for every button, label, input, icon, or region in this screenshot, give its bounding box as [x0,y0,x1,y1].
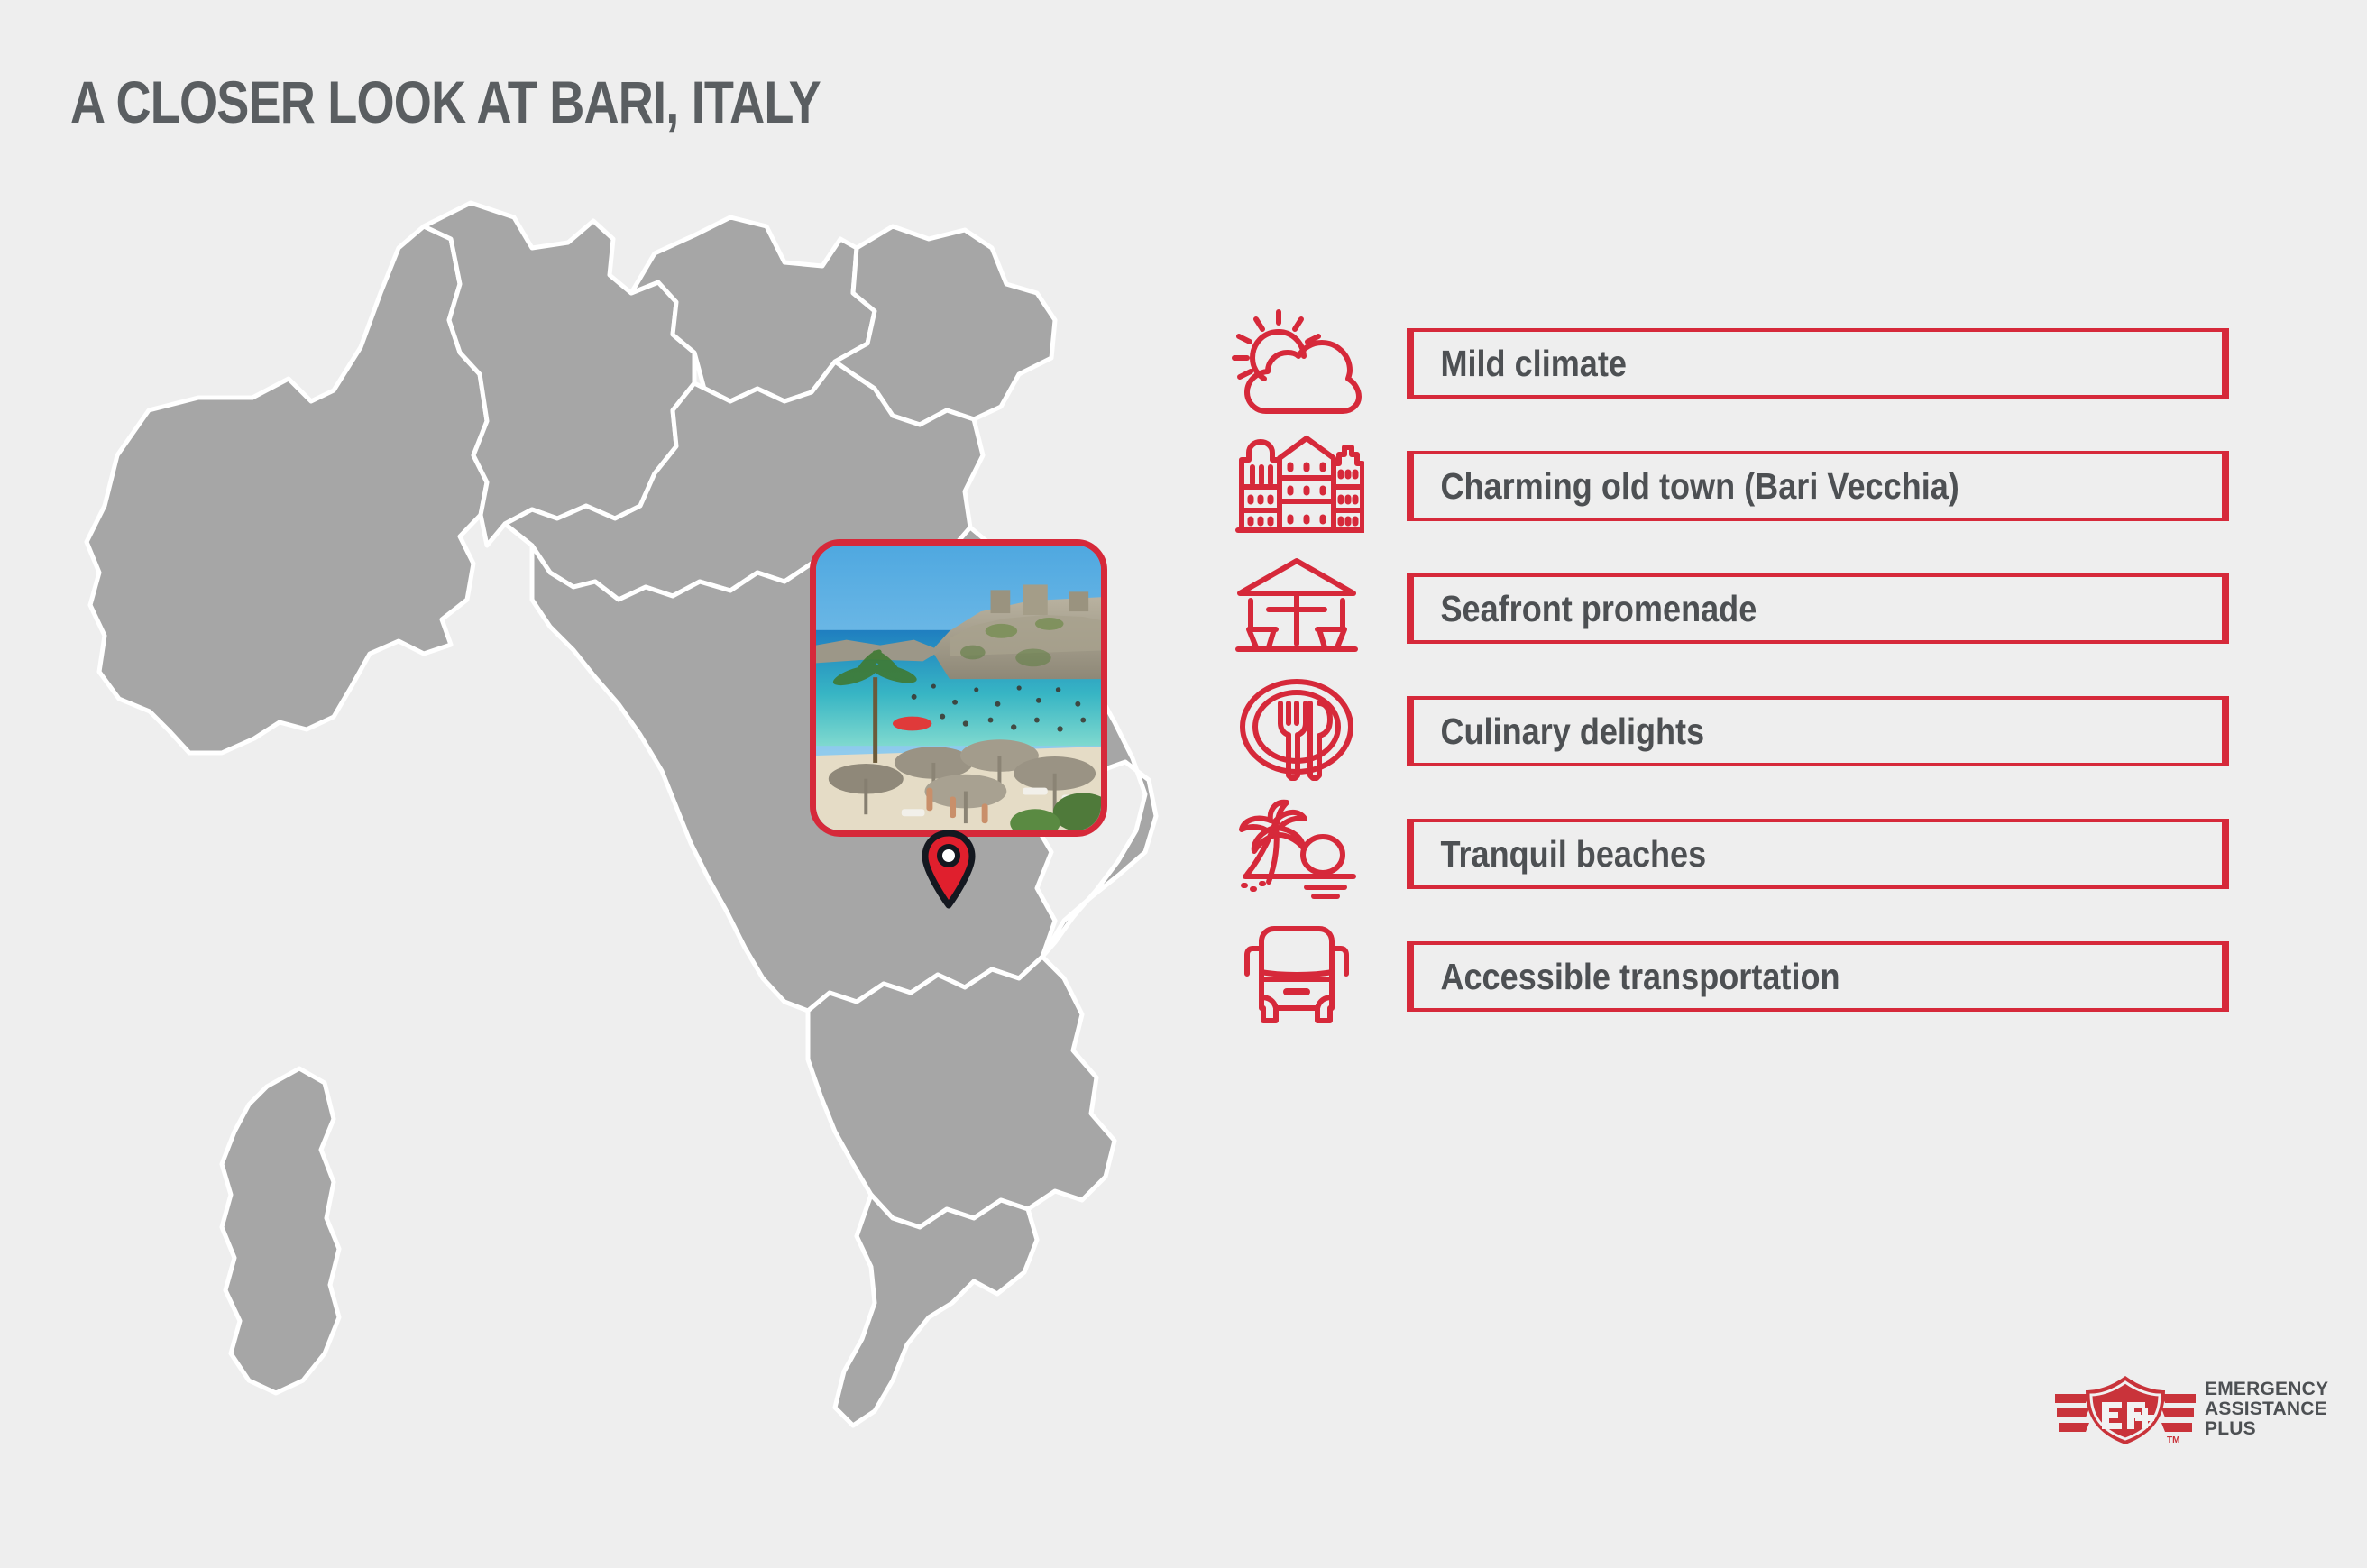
bus-front-icon [1219,918,1374,1032]
feature-row: Mild climate [1219,305,2229,427]
old-town-buildings-icon [1219,427,1374,541]
feature-box[interactable]: Culinary delights [1407,696,2229,766]
page-title: A CLOSER LOOK AT BARI, ITALY [70,72,821,132]
feature-list: Mild climate [1219,305,2229,1041]
plate-fork-knife-icon [1219,673,1374,786]
feature-label: Charming old town (Bari Vecchia) [1410,465,1959,508]
feature-box[interactable]: Charming old town (Bari Vecchia) [1407,451,2229,521]
map-pin-icon [921,830,977,911]
feature-label: Culinary delights [1410,711,1704,753]
ea-plus-shield-icon: TM [2053,1372,2197,1446]
feature-label: Tranquil beaches [1410,833,1706,876]
feature-label: Accessible transportation [1410,956,1840,998]
feature-row: Culinary delights [1219,673,2229,795]
palm-tree-sunset-icon [1219,795,1374,909]
feature-row: Accessible transportation [1219,918,2229,1041]
feature-row: Seafront promenade [1219,550,2229,673]
feature-label: Mild climate [1410,343,1627,385]
feature-label: Seafront promenade [1410,588,1757,630]
sun-cloud-icon [1219,305,1374,418]
emergency-assistance-plus-logo: TM EMERGENCY ASSISTANCE PLUS [2053,1372,2315,1446]
logo-line-3: PLUS [2205,1419,2328,1439]
logo-wordmark: EMERGENCY ASSISTANCE PLUS [2205,1380,2328,1438]
feature-box[interactable]: Mild climate [1407,328,2229,399]
patio-umbrella-table-icon [1219,550,1374,664]
feature-box[interactable]: Tranquil beaches [1407,819,2229,889]
feature-row: Tranquil beaches [1219,795,2229,918]
logo-line-1: EMERGENCY [2205,1380,2328,1399]
feature-box[interactable]: Accessible transportation [1407,941,2229,1012]
svg-text:TM: TM [2167,1435,2179,1445]
logo-line-2: ASSISTANCE [2205,1399,2328,1419]
feature-row: Charming old town (Bari Vecchia) [1219,427,2229,550]
infographic-page: A CLOSER LOOK AT BARI, ITALY [0,0,2367,1568]
bari-photo-inset [810,539,1107,837]
feature-box[interactable]: Seafront promenade [1407,573,2229,644]
